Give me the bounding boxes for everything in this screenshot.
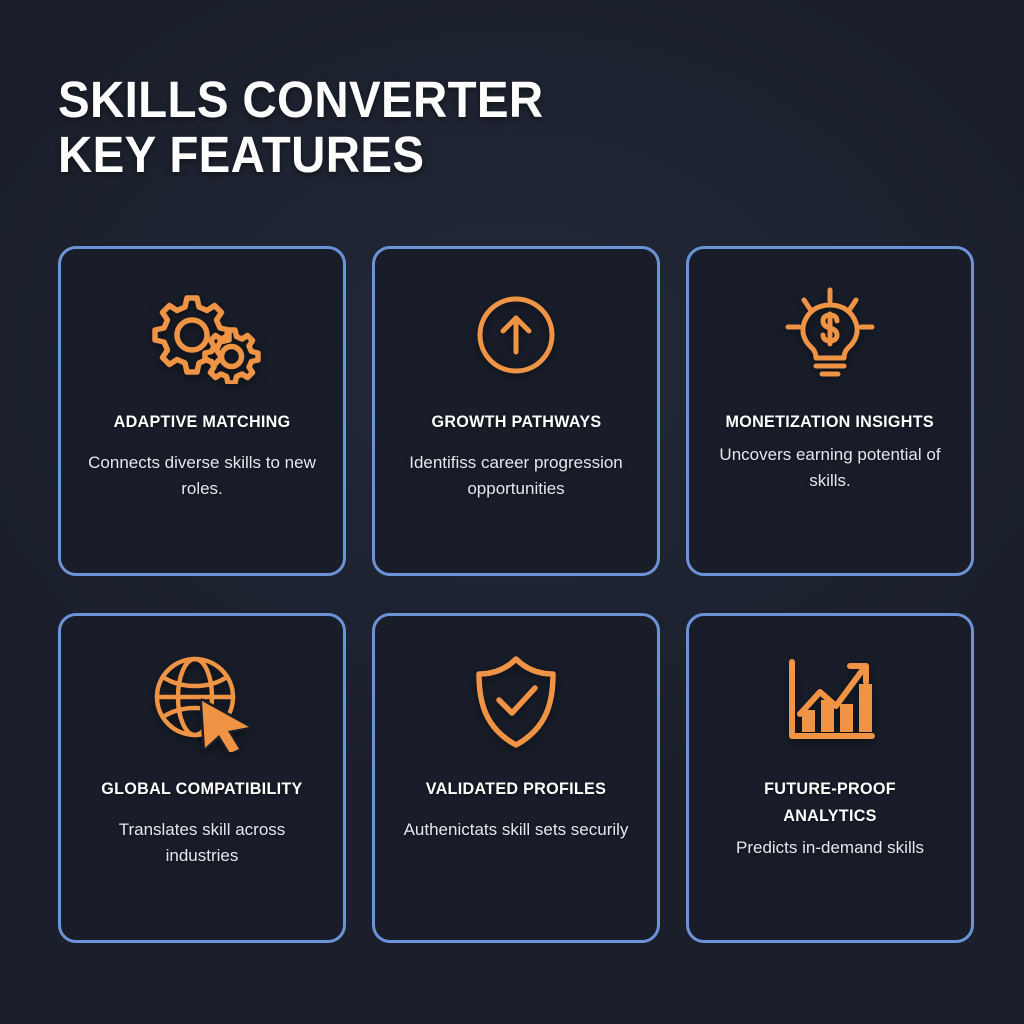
feature-card-grid: ADAPTIVE MATCHING Connects diverse skill… <box>58 246 972 943</box>
feature-description: Predicts in-demand skills <box>736 835 924 862</box>
feature-card-validated-profiles[interactable]: VALIDATED PROFILES Authenictats skill se… <box>372 613 660 943</box>
globe-cursor-icon <box>150 650 254 754</box>
shield-check-icon <box>473 650 559 754</box>
feature-description: Connects diverse skills to new roles. <box>87 450 317 503</box>
growth-chart-icon <box>780 650 880 754</box>
feature-card-adaptive-matching[interactable]: ADAPTIVE MATCHING Connects diverse skill… <box>58 246 346 576</box>
feature-title: MONETIZATION INSIGHTS <box>726 409 934 435</box>
feature-description: Identifiss career progression opportunit… <box>401 450 631 503</box>
feature-description: Authenictats skill sets securily <box>404 817 629 844</box>
page-title-line-1: SKILLS CONVERTER <box>58 72 908 127</box>
feature-card-growth-pathways[interactable]: GROWTH PATHWAYS Identifiss career progre… <box>372 246 660 576</box>
feature-description: Uncovers earning potential of skills. <box>715 442 945 495</box>
feature-title: VALIDATED PROFILES <box>426 776 606 802</box>
page-title-line-2: KEY FEATURES <box>58 127 908 182</box>
feature-card-global-compatibility[interactable]: GLOBAL COMPATIBILITY Translates skill ac… <box>58 613 346 943</box>
gears-icon <box>142 283 262 387</box>
lightbulb-dollar-icon <box>782 283 878 387</box>
feature-title: GLOBAL COMPATIBILITY <box>101 776 302 802</box>
feature-description: Translates skill across industries <box>87 817 317 870</box>
feature-title: FUTURE-PROOF ANALYTICS <box>716 776 944 829</box>
infographic-page: SKILLS CONVERTER KEY FEATURES ADAPTIVE M… <box>0 0 1024 1024</box>
feature-title: GROWTH PATHWAYS <box>431 409 601 435</box>
feature-title: ADAPTIVE MATCHING <box>114 409 291 435</box>
feature-card-future-proof-analytics[interactable]: FUTURE-PROOF ANALYTICS Predicts in-deman… <box>686 613 974 943</box>
page-title: SKILLS CONVERTER KEY FEATURES <box>58 72 972 182</box>
feature-card-monetization-insights[interactable]: MONETIZATION INSIGHTS Uncovers earning p… <box>686 246 974 576</box>
arrow-up-circle-icon <box>475 283 557 387</box>
